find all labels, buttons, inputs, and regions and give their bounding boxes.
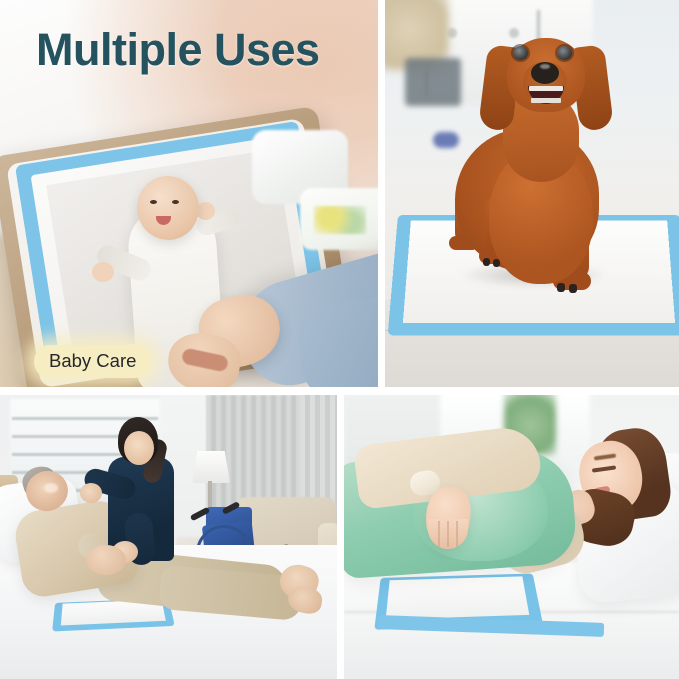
baby-right-eye xyxy=(172,200,179,204)
panel-pet-care[interactable]: Pet Care xyxy=(385,0,679,387)
panel-baby-care[interactable]: Multiple Uses Baby Care xyxy=(0,0,378,387)
dog-claw-4 xyxy=(569,284,577,293)
dog-left-eye xyxy=(513,46,528,60)
page-title: Multiple Uses xyxy=(36,26,320,73)
dog-claw-3 xyxy=(557,283,565,292)
patient-hands xyxy=(86,545,126,575)
baby-left-hand xyxy=(92,262,114,282)
pet-care-photo xyxy=(385,0,679,387)
finger-line-2 xyxy=(447,521,449,547)
baby-left-eye xyxy=(150,200,157,204)
nursing-comfort-photo xyxy=(344,395,679,679)
panel-patient-care[interactable]: Patient Care xyxy=(0,395,337,679)
dog-right-eye xyxy=(557,46,572,60)
dog-nose-highlight xyxy=(540,64,550,69)
dog-toy xyxy=(433,132,459,148)
finger-line-1 xyxy=(438,521,440,547)
nurse-hand-upper xyxy=(80,483,102,503)
furniture-base xyxy=(405,58,461,106)
underpad-white-core xyxy=(386,576,530,619)
dog-lower-teeth xyxy=(531,98,561,103)
patient-care-photo xyxy=(0,395,337,679)
patient-face-highlight xyxy=(44,483,58,493)
multiple-uses-collage: Multiple Uses Baby Care xyxy=(0,0,679,679)
cabinet-knob-right xyxy=(509,28,519,38)
lamp-shade xyxy=(192,451,230,483)
panel-nursing-comfort[interactable]: Nursing Comfort xyxy=(344,395,679,679)
finger-line-3 xyxy=(456,521,458,547)
dog-upper-teeth xyxy=(529,86,563,91)
dog-claw-1 xyxy=(483,258,490,266)
nurse-face xyxy=(124,431,154,465)
label-baby-care: Baby Care xyxy=(34,345,151,378)
diaper-print xyxy=(314,206,366,234)
